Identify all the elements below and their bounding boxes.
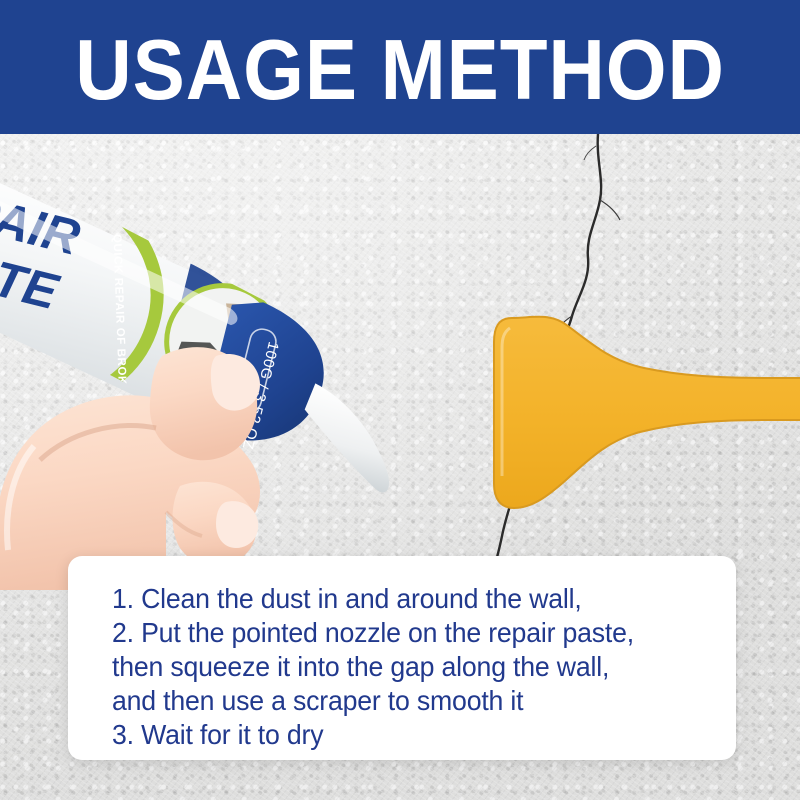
instruction-line: then squeeze it into the gap along the w… bbox=[112, 650, 717, 684]
product-usage-graphic: REPAIR PASTE QUICK REPAIR OF BROKEN WALL… bbox=[0, 0, 800, 800]
instructions-card: 1. Clean the dust in and around the wall… bbox=[68, 556, 736, 760]
instruction-line: 1. Clean the dust in and around the wall… bbox=[112, 582, 717, 616]
instruction-line: and then use a scraper to smooth it bbox=[112, 684, 717, 718]
page-title: USAGE METHOD bbox=[75, 28, 725, 113]
instruction-line: 2. Put the pointed nozzle on the repair … bbox=[112, 616, 717, 650]
instructions-list: 1. Clean the dust in and around the wall… bbox=[68, 556, 736, 752]
instruction-line: 3. Wait for it to dry bbox=[112, 718, 717, 752]
scraper-tool-icon bbox=[470, 280, 800, 520]
header-banner: USAGE METHOD bbox=[0, 0, 800, 134]
